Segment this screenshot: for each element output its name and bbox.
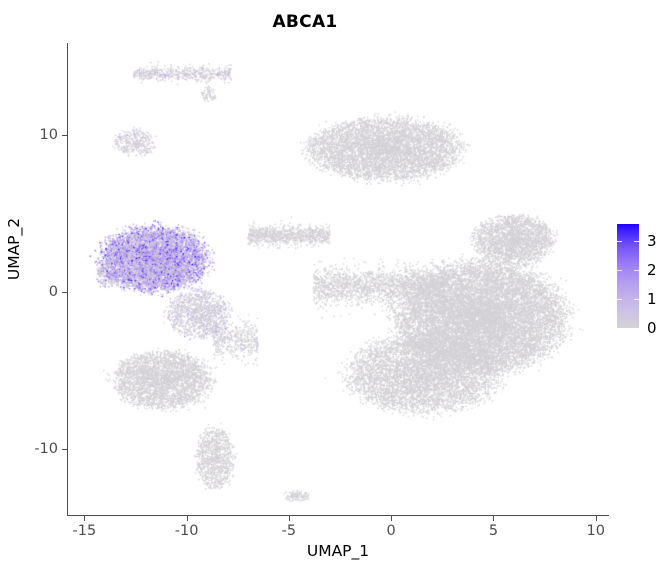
x-tick-mark [391,516,392,521]
colorbar-tick-mark [617,328,622,329]
colorbar-tick-mark [634,328,639,329]
x-tick-label: -15 [73,523,97,539]
x-axis-line [67,515,609,516]
colorbar-tick-label: 2 [647,261,657,279]
y-axis-title: UMAP_2 [5,149,23,349]
colorbar-tick-mark [634,241,639,242]
x-axis-title: UMAP_1 [68,542,608,560]
colorbar-tick-mark [617,299,622,300]
y-tick-label: 10 [40,127,58,143]
scatter-point-layer [68,44,608,515]
colorbar-tick-mark [617,241,622,242]
plot-panel [68,44,608,515]
y-axis-line [67,43,68,516]
colorbar-gradient [617,224,639,328]
x-tick-label: 0 [387,523,396,539]
colorbar-tick-mark [617,270,622,271]
y-tick-mark [62,135,67,136]
colorbar-tick-label: 1 [647,290,657,308]
x-tick-mark [596,516,597,521]
colorbar-tick-label: 3 [647,232,657,250]
y-tick-label: -10 [34,441,58,457]
x-tick-label: -5 [282,523,296,539]
page-title: ABCA1 [0,12,610,32]
x-tick-mark [187,516,188,521]
colorbar-legend: 3210 [617,222,669,334]
y-tick-label: 0 [49,284,58,300]
y-tick-mark [62,292,67,293]
x-tick-mark [493,516,494,521]
x-tick-label: 5 [489,523,498,539]
x-tick-mark [84,516,85,521]
y-tick-mark [62,449,67,450]
x-tick-label: -10 [175,523,199,539]
colorbar-tick-mark [634,270,639,271]
x-tick-label: 10 [586,523,604,539]
x-tick-mark [289,516,290,521]
colorbar-tick-label: 0 [647,319,657,337]
umap-feature-plot: ABCA1 -15-10-50510 100-10 UMAP_1 UMAP_2 … [0,0,672,576]
colorbar-tick-mark [634,299,639,300]
